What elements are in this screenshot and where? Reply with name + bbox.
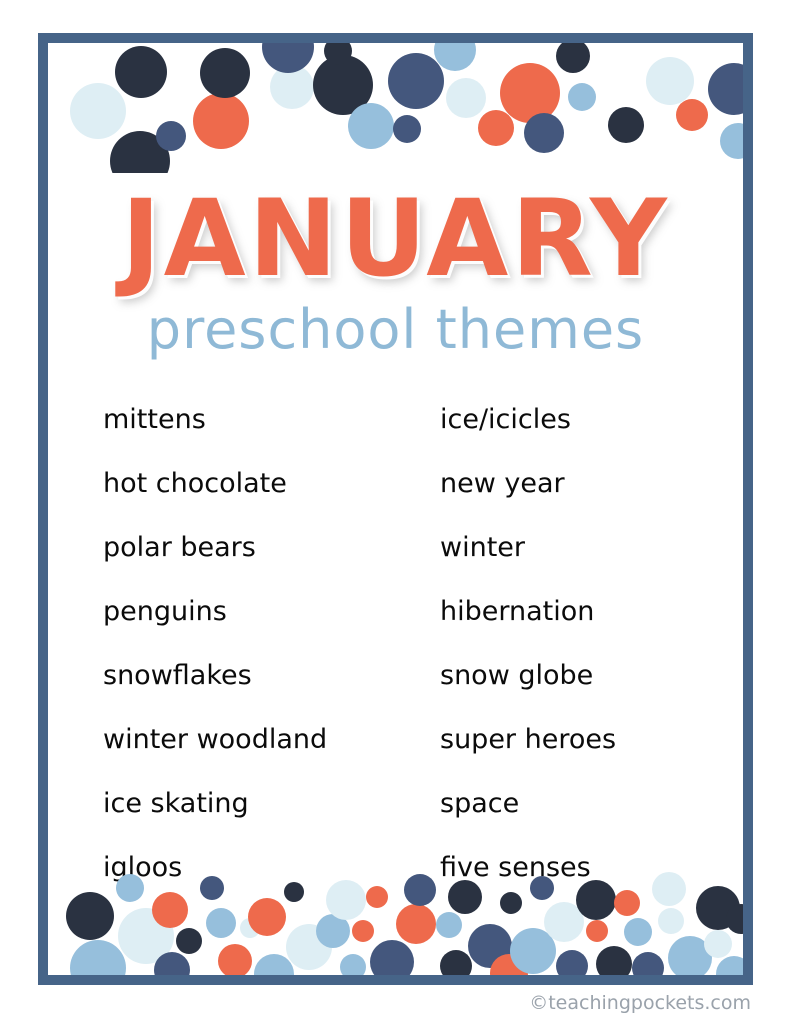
theme-item-right-0: ice/icicles [440, 388, 693, 452]
top-dot-1 [70, 83, 126, 139]
top-dot-17 [524, 113, 564, 153]
theme-item-left-5: winter woodland [103, 708, 440, 772]
top-dot-11 [393, 115, 421, 143]
top-dot-6 [270, 65, 314, 109]
theme-item-left-4: snowflakes [103, 644, 440, 708]
top-dot-4 [193, 93, 249, 149]
theme-item-right-4: snow globe [440, 644, 693, 708]
bottom-dot-15 [316, 914, 350, 948]
top-dot-22 [676, 99, 708, 131]
theme-item-right-2: winter [440, 516, 693, 580]
top-dot-15 [478, 110, 514, 146]
top-dot-decoration [48, 43, 743, 173]
theme-item-right-7: five senses [440, 836, 693, 900]
top-dot-19 [568, 83, 596, 111]
poster-page: JANUARY preschool themes mittensice/icic… [0, 0, 791, 1024]
bottom-dot-35 [596, 946, 632, 975]
theme-item-right-3: hibernation [440, 580, 693, 644]
theme-item-right-5: super heroes [440, 708, 693, 772]
top-dot-13 [434, 43, 476, 71]
bottom-dot-45 [726, 904, 743, 934]
top-dot-8 [313, 55, 373, 115]
bottom-dot-8 [206, 908, 236, 938]
bottom-dot-17 [340, 954, 366, 975]
bottom-dot-9 [218, 944, 252, 975]
bottom-dot-31 [544, 902, 584, 942]
theme-item-left-0: mittens [103, 388, 440, 452]
bottom-dot-38 [632, 952, 664, 975]
top-dot-0 [110, 131, 170, 173]
copyright-footer: ©teachingpockets.com [529, 992, 751, 1014]
bottom-dot-32 [556, 950, 588, 975]
bottom-dot-40 [658, 908, 684, 934]
theme-item-left-1: hot chocolate [103, 452, 440, 516]
page-title: JANUARY [48, 183, 743, 294]
bottom-dot-34 [586, 920, 608, 942]
page-subtitle: preschool themes [48, 300, 743, 359]
top-dot-23 [708, 63, 743, 115]
bottom-dot-18 [352, 920, 374, 942]
theme-item-right-1: new year [440, 452, 693, 516]
top-dot-14 [446, 78, 486, 118]
top-dot-18 [556, 43, 590, 73]
bottom-dot-5 [154, 952, 190, 975]
bottom-dot-44 [716, 956, 743, 975]
top-dot-24 [720, 123, 743, 159]
bottom-dot-41 [668, 936, 712, 975]
poster-frame-inner: JANUARY preschool themes mittensice/icic… [48, 43, 743, 975]
theme-item-right-6: space [440, 772, 693, 836]
top-dot-12 [388, 53, 444, 109]
top-dot-21 [646, 57, 694, 105]
top-dot-10 [324, 43, 352, 65]
bottom-dot-11 [248, 898, 286, 936]
top-dot-20 [608, 107, 644, 143]
theme-item-left-3: penguins [103, 580, 440, 644]
bottom-dot-26 [468, 924, 512, 968]
top-dot-7 [262, 43, 314, 73]
bottom-dot-12 [254, 954, 294, 975]
themes-list: mittensice/icicleshot chocolatenew yearp… [103, 388, 693, 900]
bottom-dot-23 [436, 912, 462, 938]
top-dot-2 [156, 121, 186, 151]
theme-item-left-6: ice skating [103, 772, 440, 836]
theme-item-left-2: polar bears [103, 516, 440, 580]
bottom-dot-10 [240, 918, 260, 938]
bottom-dot-29 [510, 928, 556, 974]
theme-item-left-7: igloos [103, 836, 440, 900]
top-dot-9 [348, 103, 394, 149]
bottom-dot-14 [286, 924, 332, 970]
bottom-dot-37 [624, 918, 652, 946]
bottom-dot-42 [696, 886, 740, 930]
bottom-dot-27 [490, 954, 528, 975]
bottom-dot-1 [70, 940, 126, 975]
bottom-dot-21 [396, 904, 436, 944]
bottom-dot-3 [118, 908, 174, 964]
top-dot-3 [115, 46, 167, 98]
poster-frame: JANUARY preschool themes mittensice/icic… [38, 33, 753, 985]
bottom-dot-20 [370, 940, 414, 975]
poster-heading: JANUARY preschool themes [48, 183, 743, 360]
bottom-dot-6 [176, 928, 202, 954]
top-dot-16 [500, 63, 560, 123]
top-dot-5 [200, 48, 250, 98]
bottom-dot-43 [704, 930, 732, 958]
bottom-dot-24 [440, 950, 472, 975]
